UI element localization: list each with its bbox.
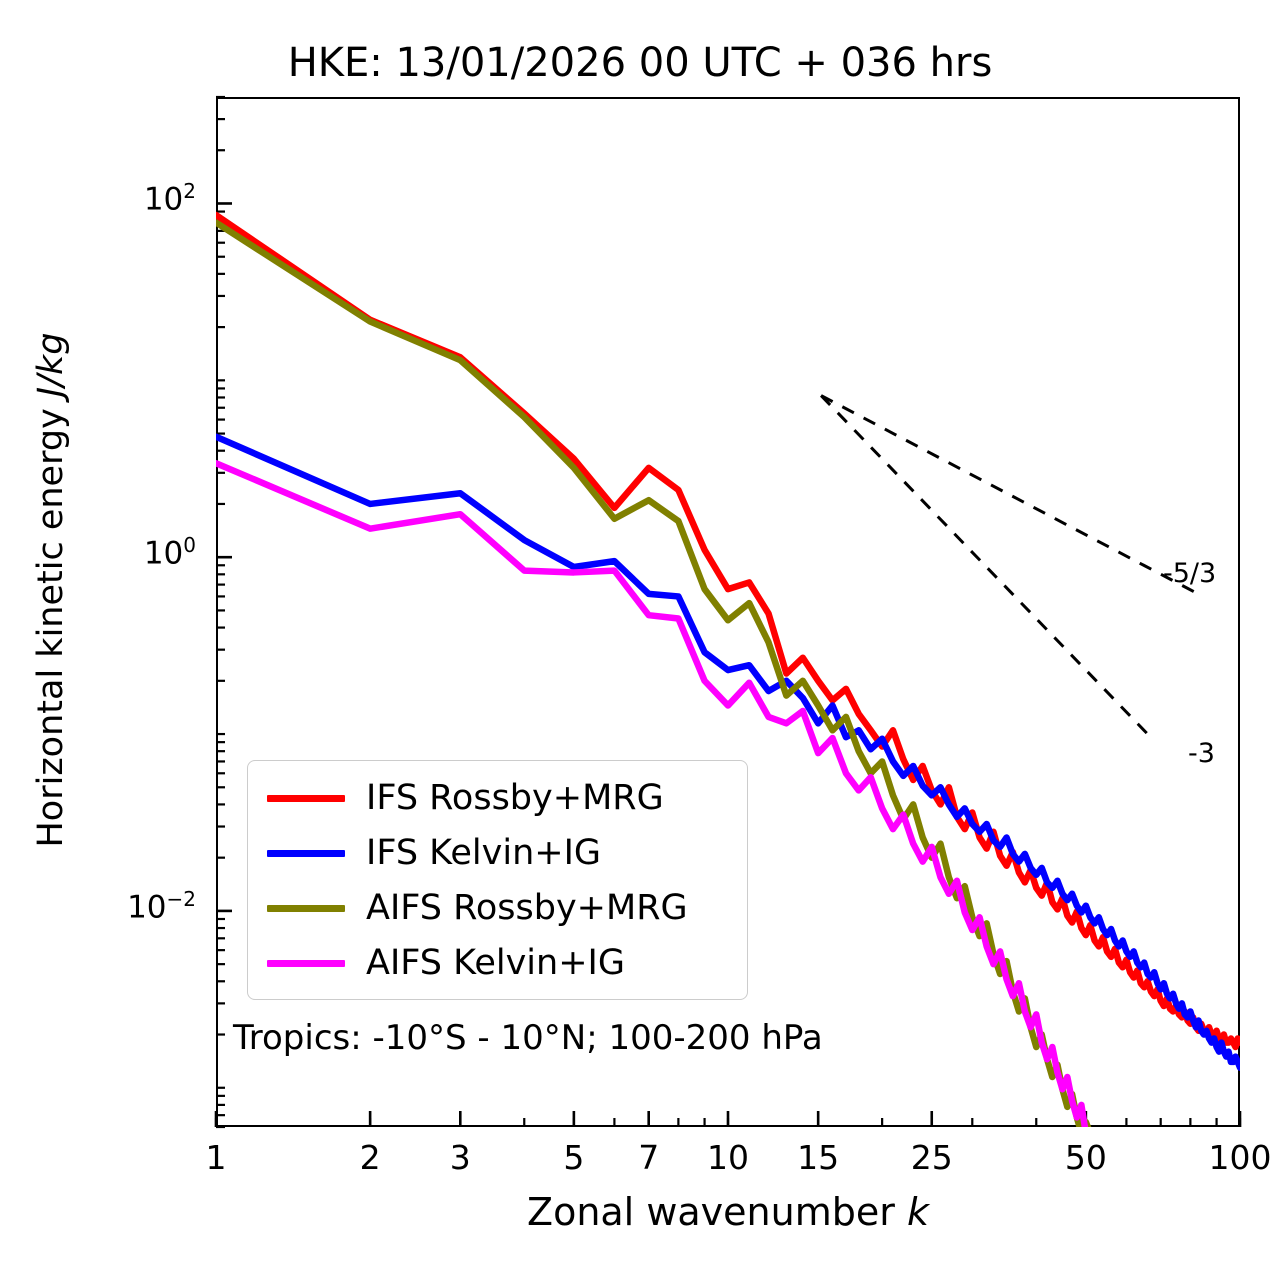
- y-axis-label-text: Horizontal kinetic energy: [31, 397, 71, 847]
- legend-label: IFS Rossby+MRG: [366, 781, 664, 816]
- y-axis-label: Horizontal kinetic energy J/kg: [31, 90, 71, 1090]
- x-tick-label: 100: [1180, 1141, 1280, 1174]
- x-tick-label: 15: [758, 1141, 878, 1174]
- legend-color-swatch: [267, 850, 345, 857]
- x-tick-label: 50: [1026, 1141, 1146, 1174]
- legend[interactable]: IFS Rossby+MRGIFS Kelvin+IGAIFS Rossby+M…: [247, 760, 748, 1000]
- figure-canvas: HKE: 13/01/2026 00 UTC + 036 hrs 1021001…: [0, 0, 1280, 1288]
- legend-item[interactable]: AIFS Rossby+MRG: [248, 881, 747, 936]
- legend-color-swatch: [267, 795, 345, 802]
- x-tick-label: 1: [156, 1141, 276, 1174]
- slope-label-minus-three: -3: [1188, 738, 1215, 769]
- legend-item[interactable]: IFS Kelvin+IG: [248, 826, 747, 881]
- legend-label: IFS Kelvin+IG: [366, 836, 601, 871]
- legend-color-swatch: [267, 960, 345, 967]
- region-annotation: Tropics: -10°S - 10°N; 100-200 hPa: [233, 1018, 823, 1058]
- legend-label: AIFS Kelvin+IG: [366, 946, 625, 981]
- legend-label: AIFS Rossby+MRG: [366, 891, 688, 926]
- x-tick-label: 25: [872, 1141, 992, 1174]
- x-axis-label-symbol: k: [907, 1190, 929, 1234]
- legend-item[interactable]: IFS Rossby+MRG: [248, 771, 747, 826]
- legend-color-swatch: [267, 905, 345, 912]
- y-axis-label-unit: J/kg: [31, 332, 71, 397]
- slope-label-five-thirds: -5/3: [1163, 558, 1216, 589]
- x-axis-label-text: Zonal wavenumber: [527, 1190, 907, 1234]
- x-axis-label: Zonal wavenumber k: [216, 1190, 1240, 1234]
- x-tick-label: 3: [400, 1141, 520, 1174]
- reference-slope-lines: [821, 396, 1196, 734]
- legend-item[interactable]: AIFS Kelvin+IG: [248, 936, 747, 991]
